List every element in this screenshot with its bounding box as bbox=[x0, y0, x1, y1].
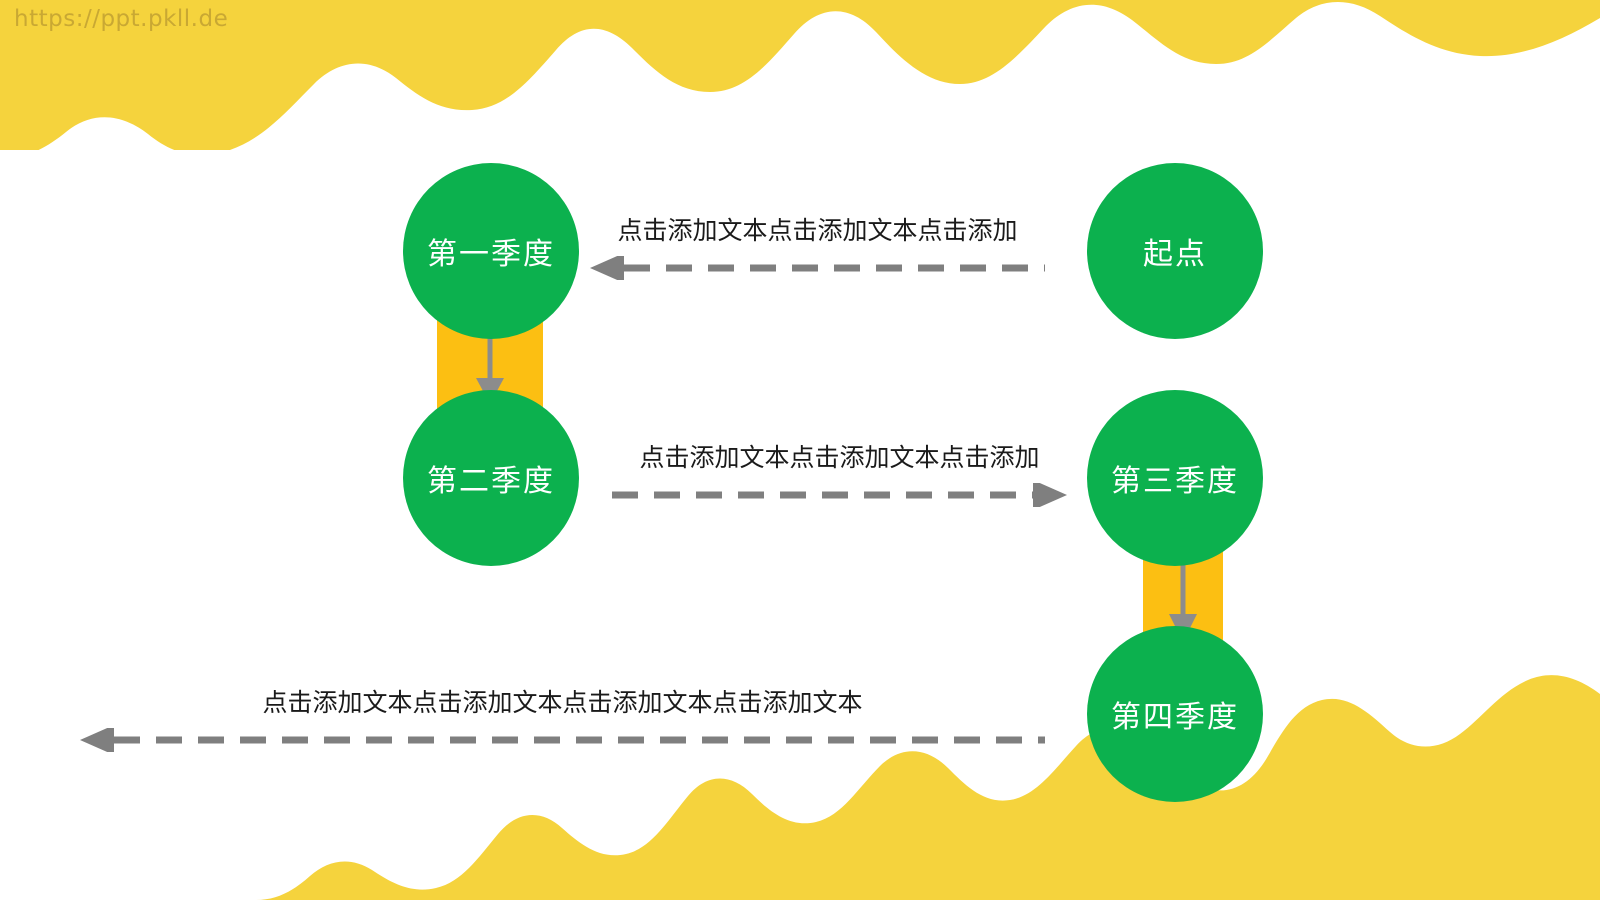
top-wave-decoration bbox=[0, 0, 1600, 150]
node-q3[interactable]: 第三季度 bbox=[1087, 390, 1263, 566]
node-q1-label: 第一季度 bbox=[427, 229, 555, 273]
dashed-arrow-left-icon-start-to-q1 bbox=[590, 256, 1045, 280]
node-q3-label: 第三季度 bbox=[1111, 456, 1239, 500]
flow-q2-to-q3-caption: 点击添加文本点击添加文本点击添加 bbox=[612, 445, 1067, 473]
node-q2-label: 第二季度 bbox=[427, 456, 555, 500]
node-q1[interactable]: 第一季度 bbox=[403, 163, 579, 339]
flow-q4-to-end-caption: 点击添加文本点击添加文本点击添加文本点击添加文本 bbox=[80, 690, 1045, 718]
node-q4[interactable]: 第四季度 bbox=[1087, 626, 1263, 802]
watermark-url: https://ppt.pkll.de bbox=[14, 6, 228, 32]
node-q4-label: 第四季度 bbox=[1111, 692, 1239, 736]
flow-q4-to-end: 点击添加文本点击添加文本点击添加文本点击添加文本 bbox=[80, 690, 1045, 752]
flow-start-to-q1-caption: 点击添加文本点击添加文本点击添加 bbox=[590, 218, 1045, 246]
node-q2[interactable]: 第二季度 bbox=[403, 390, 579, 566]
node-start-label: 起点 bbox=[1143, 229, 1207, 273]
flow-q2-to-q3: 点击添加文本点击添加文本点击添加 bbox=[612, 445, 1067, 507]
flow-start-to-q1: 点击添加文本点击添加文本点击添加 bbox=[590, 218, 1045, 280]
node-start[interactable]: 起点 bbox=[1087, 163, 1263, 339]
slide-canvas: https://ppt.pkll.de 第一季度 起点 第二季度 第三季度 第四… bbox=[0, 0, 1600, 900]
dashed-arrow-right-icon-q2-to-q3 bbox=[612, 483, 1067, 507]
dashed-arrow-left-icon-q4-to-end bbox=[80, 728, 1045, 752]
